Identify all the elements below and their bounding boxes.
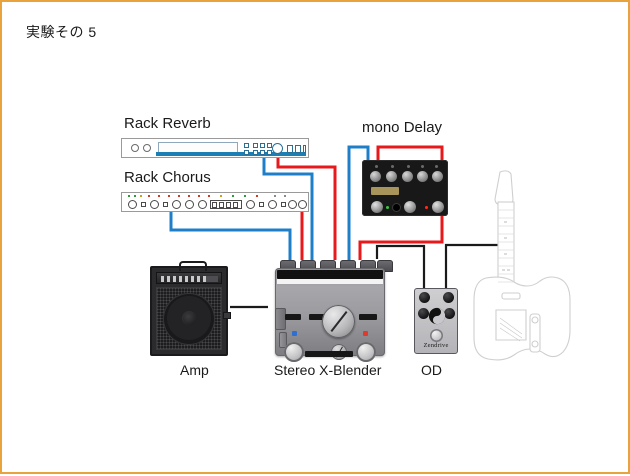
device-od-zendrive[interactable]: Zendrive [414, 288, 458, 354]
reverb-button-9[interactable] [287, 145, 293, 153]
diagram-canvas: 実験その 5 Rack Reverb Rack Chorus [0, 0, 630, 474]
od-knob-1[interactable] [419, 292, 430, 303]
delay-indicator-2 [391, 165, 394, 168]
reverb-button-11[interactable] [303, 145, 306, 153]
reverb-knob-2[interactable] [143, 144, 151, 152]
device-guitar[interactable] [472, 168, 580, 364]
label-stereo-x-blender: Stereo X-Blender [274, 362, 381, 378]
device-mono-delay[interactable] [362, 160, 448, 216]
chorus-knob-9[interactable] [298, 200, 307, 209]
reverb-button-8[interactable] [267, 150, 272, 155]
reverb-button-6[interactable] [253, 150, 258, 155]
od-knob-2[interactable] [443, 292, 454, 303]
chorus-knob-5[interactable] [198, 200, 207, 209]
blender-blend-knob[interactable] [322, 305, 355, 338]
blender-led-red [363, 331, 368, 336]
label-amp: Amp [180, 362, 209, 378]
reverb-button-2[interactable] [244, 150, 249, 155]
chorus-button-1[interactable] [141, 202, 146, 207]
delay-display [371, 187, 399, 195]
yin-yang-icon [428, 307, 446, 325]
delay-footswitch-right[interactable] [432, 201, 444, 213]
delay-indicator-4 [421, 165, 424, 168]
reverb-accent-bar [156, 152, 306, 156]
delay-indicator-5 [435, 165, 438, 168]
blender-body [275, 268, 385, 356]
amp-speaker-cone [163, 293, 215, 345]
chorus-button-3[interactable] [259, 202, 264, 207]
delay-jack[interactable] [393, 204, 400, 211]
delay-footswitch-mid[interactable] [404, 201, 416, 213]
amp-logo [206, 276, 218, 282]
label-mono-delay: mono Delay [362, 119, 442, 136]
blender-top-white-bar [277, 279, 383, 284]
reverb-button-10[interactable] [295, 145, 301, 153]
blender-footswitch-left[interactable] [284, 342, 304, 362]
reverb-data-dial[interactable] [272, 143, 283, 154]
od-brand-text: Zendrive [415, 342, 457, 349]
amp-grille [156, 287, 222, 350]
od-footswitch[interactable] [430, 329, 443, 342]
blender-top-black-bar [277, 270, 383, 279]
delay-knob-2[interactable] [386, 171, 397, 182]
chorus-knob-6[interactable] [246, 200, 255, 209]
chorus-knob-1[interactable] [128, 200, 137, 209]
chorus-button-2[interactable] [163, 202, 168, 207]
blender-footswitch-right[interactable] [356, 342, 376, 362]
blender-slot-right [359, 314, 377, 320]
guitar-knob-2 [532, 341, 538, 347]
label-rack-chorus: Rack Chorus [124, 169, 211, 186]
delay-knob-4[interactable] [417, 171, 428, 182]
device-stereo-x-blender[interactable] [267, 254, 392, 359]
guitar-headstock [495, 171, 513, 205]
delay-knob-5[interactable] [432, 171, 443, 182]
chorus-bank-buttons[interactable] [210, 200, 242, 209]
cable-chorus-blue [171, 212, 290, 260]
label-rack-reverb: Rack Reverb [124, 115, 211, 132]
delay-indicator-3 [407, 165, 410, 168]
delay-knob-1[interactable] [370, 171, 381, 182]
chorus-knob-3[interactable] [172, 200, 181, 209]
chorus-button-4[interactable] [281, 202, 286, 207]
chorus-knob-2[interactable] [150, 200, 159, 209]
device-rack-reverb[interactable] [121, 138, 309, 158]
amp-handle[interactable] [179, 261, 207, 271]
chorus-knob-4[interactable] [185, 200, 194, 209]
delay-footswitch-left[interactable] [371, 201, 383, 213]
reverb-button-3[interactable] [253, 143, 258, 148]
amp-control-panel[interactable] [156, 272, 222, 284]
guitar-knob-1 [532, 317, 538, 323]
reverb-knob-1[interactable] [131, 144, 139, 152]
reverb-button-7[interactable] [260, 150, 265, 155]
delay-indicator-1 [375, 165, 378, 168]
blender-led-blue [292, 331, 297, 336]
delay-led-green [386, 206, 389, 209]
device-amp[interactable] [150, 266, 228, 356]
reverb-button-4[interactable] [260, 143, 265, 148]
blender-slot-left [285, 314, 301, 320]
blender-bottom-slot [305, 351, 353, 357]
device-rack-chorus[interactable] [121, 192, 309, 212]
chorus-knob-8[interactable] [288, 200, 297, 209]
page-title: 実験その 5 [26, 22, 97, 42]
chorus-led-strip [124, 194, 308, 198]
reverb-button-1[interactable] [244, 143, 249, 148]
delay-knob-3[interactable] [402, 171, 413, 182]
delay-led-red [425, 206, 428, 209]
amp-input-jack[interactable] [223, 312, 231, 319]
guitar-neck-pickup [502, 293, 520, 299]
label-od: OD [421, 362, 442, 378]
chorus-knob-7[interactable] [268, 200, 277, 209]
